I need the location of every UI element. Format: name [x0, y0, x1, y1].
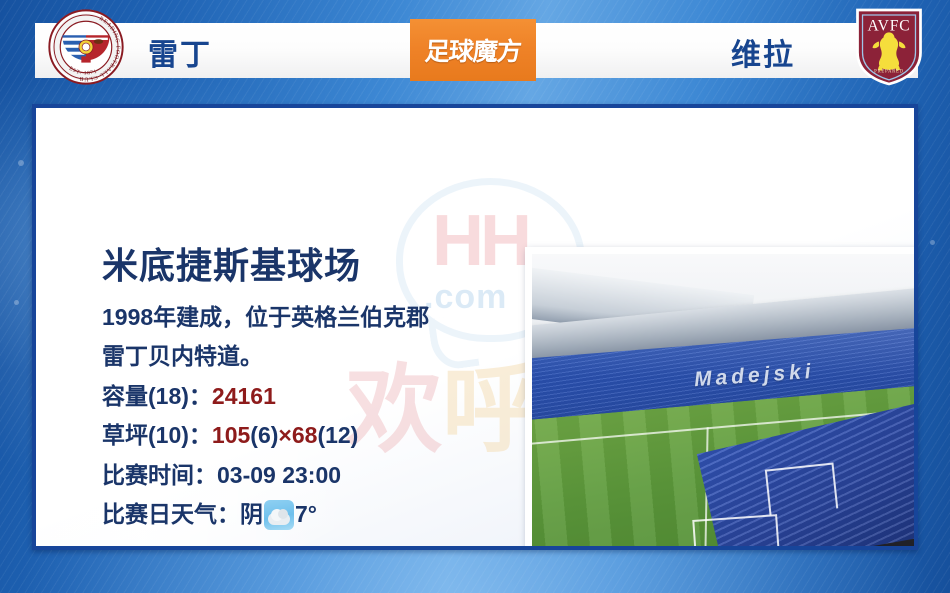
- background-dot: [14, 300, 19, 305]
- background-dot: [930, 240, 935, 245]
- stadium-photo: Madejski Stadium: [532, 254, 914, 546]
- capacity-row: 容量(18)：24161: [102, 377, 512, 417]
- stadium-title: 米底捷斯基球场: [102, 246, 512, 286]
- stadium-description-line1: 1998年建成，位于英格兰伯克郡: [102, 298, 512, 338]
- pitch-width: 68: [292, 422, 318, 448]
- photo-goal-near: [693, 514, 782, 546]
- photo-goal-far: [765, 462, 838, 515]
- svg-text:PREPARED: PREPARED: [874, 70, 904, 75]
- match-header: READING FOOTBALL CLUB EST. 1871 雷丁 足球魔方 …: [0, 0, 950, 92]
- stadium-info: 米底捷斯基球场 1998年建成，位于英格兰伯克郡 雷丁贝内特道。 容量(18)：…: [102, 246, 512, 535]
- match-stadium-card: READING FOOTBALL CLUB EST. 1871 雷丁 足球魔方 …: [0, 0, 950, 593]
- pitch-length: 105: [212, 422, 250, 448]
- weather-condition: 阴: [240, 495, 263, 535]
- pitch-label: 草坪(10)：: [102, 422, 212, 448]
- brand-logo-text: 足球魔方: [424, 32, 523, 68]
- capacity-value: 24161: [212, 383, 276, 409]
- match-time-row: 比赛时间：03-09 23:00: [102, 456, 512, 496]
- content-panel: HH .com 欢呼 米底捷斯基球场 1998年建成，位于英格兰伯克郡 雷丁贝内…: [32, 104, 918, 550]
- stadium-photo-frame[interactable]: Madejski Stadium: [525, 247, 914, 546]
- match-time-label: 比赛时间：: [102, 462, 217, 488]
- capacity-label: 容量(18)：: [102, 383, 212, 409]
- weather-temperature: 7°: [295, 495, 317, 535]
- brand-logo[interactable]: 足球魔方: [410, 19, 536, 81]
- reading-fc-crest-icon: READING FOOTBALL CLUB EST. 1871: [47, 8, 125, 86]
- weather-label: 比赛日天气：: [102, 495, 240, 535]
- cloudy-icon: [264, 500, 294, 530]
- away-team-name: 维拉: [731, 30, 795, 74]
- home-team-name: 雷丁: [148, 30, 212, 74]
- svg-text:AVFC: AVFC: [867, 18, 910, 35]
- pitch-width-rank: (12): [317, 422, 358, 448]
- background-dot: [18, 160, 24, 166]
- match-time-value: 03-09 23:00: [217, 462, 341, 488]
- pitch-length-rank: (6): [250, 422, 278, 448]
- pitch-times-sign: ×: [278, 422, 291, 448]
- stadium-description-line2: 雷丁贝内特道。: [102, 337, 512, 377]
- weather-row: 比赛日天气：阴7°: [102, 495, 512, 535]
- pitch-row: 草坪(10)：105(6)×68(12): [102, 416, 512, 456]
- aston-villa-crest-icon: AVFC PREPARED: [852, 5, 926, 89]
